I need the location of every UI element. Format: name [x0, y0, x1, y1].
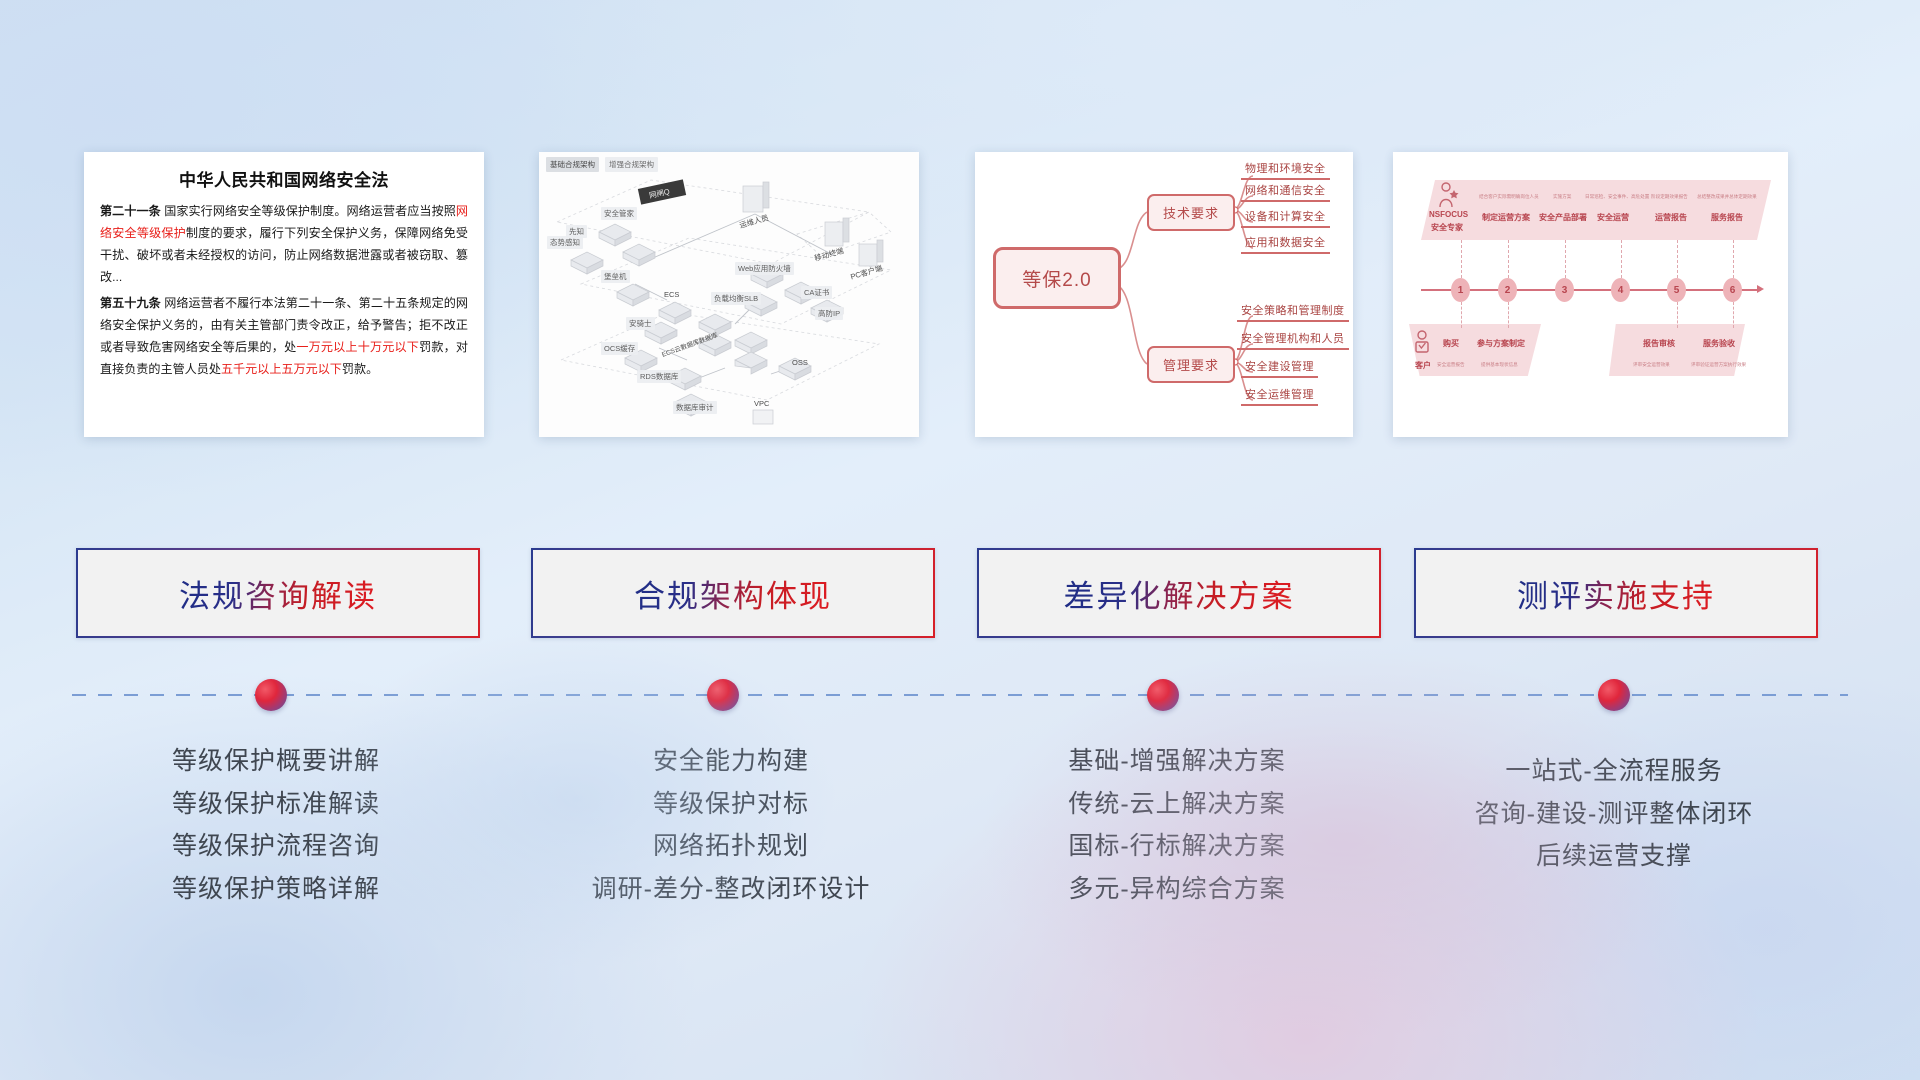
list-item: 基础-增强解决方案 — [977, 740, 1377, 783]
article-59-text-c: 罚款。 — [342, 362, 378, 376]
connector-bottom-1 — [1461, 302, 1462, 328]
mindmap-branch-management: 管理要求 — [1147, 346, 1235, 383]
pillar-heading-1: 法规咨询解读 — [179, 571, 377, 616]
arch-label-rds-database: RDS数据库 — [637, 370, 681, 383]
connector-top-4 — [1621, 240, 1622, 278]
pillar-list-1: 等级保护概要讲解 等级保护标准解读 等级保护流程咨询 等级保护策略详解 — [76, 740, 476, 910]
poster-canvas: 中华人民共和国网络安全法 第二十一条 国家实行网络安全等级保护制度。网络运营者应… — [0, 0, 1920, 1080]
arch-label-anti-ddos-ip: 高防IP — [815, 307, 843, 320]
arch-label-anqishi: 安骑士 — [626, 317, 655, 330]
arch-label-waf: Web应用防火墙 — [735, 262, 794, 275]
connector-top-1 — [1461, 240, 1462, 278]
list-item: 传统-云上解决方案 — [977, 783, 1377, 826]
timeline-axis — [1421, 289, 1761, 291]
arch-label-ca-cert: CA证书 — [801, 286, 832, 299]
timeline-step-3: 3 — [1555, 278, 1574, 302]
list-item: 后续运营支撑 — [1414, 835, 1814, 878]
mindmap-leaf-app-data: 应用和数据安全 — [1241, 234, 1330, 254]
dashed-timeline-track — [72, 694, 1848, 696]
law-title: 中华人民共和国网络安全法 — [100, 166, 468, 191]
timeline-step-4: 4 — [1611, 278, 1630, 302]
top-step-4-sub: 阶段定期效果报告 — [1651, 194, 1688, 200]
article-59-label: 第五十九条 — [100, 296, 161, 310]
connector-bottom-4 — [1733, 302, 1734, 328]
list-item: 等级保护对标 — [531, 783, 931, 826]
top-step-5-title: 服务报告 — [1711, 212, 1743, 223]
list-item: 调研-差分-整改闭环设计 — [531, 868, 931, 911]
top-step-2-sub: 实施方案 — [1553, 194, 1571, 200]
list-item: 等级保护策略详解 — [76, 868, 476, 911]
article-21-label: 第二十一条 — [100, 204, 161, 218]
connector-top-2 — [1508, 240, 1509, 278]
mindmap-leaf-device-compute: 设备和计算安全 — [1241, 208, 1330, 228]
mindmap-branch-technical: 技术要求 — [1147, 194, 1235, 231]
timeline-marker-2[interactable] — [707, 679, 739, 711]
timeline-step-5: 5 — [1667, 278, 1686, 302]
arch-label-db-audit: 数据库审计 — [673, 401, 717, 414]
brand-name: NSFOCUS — [1429, 210, 1468, 219]
pillar-heading-4: 测评实施支持 — [1517, 571, 1715, 616]
list-item: 网络拓扑规划 — [531, 825, 931, 868]
mindmap-leaf-network-comm: 网络和通信安全 — [1241, 182, 1330, 202]
arch-label-vpc: VPC — [751, 398, 772, 409]
timeline-marker-3[interactable] — [1147, 679, 1179, 711]
bottom-step-3-sub: 评审安全运营效果 — [1633, 362, 1670, 368]
architecture-canvas: 基础合规架构 增强合规架构 — [539, 152, 919, 437]
bottom-step-4-title: 服务验收 — [1703, 338, 1735, 349]
arch-label-ecs: ECS — [661, 289, 682, 300]
expert-avatar-icon — [1437, 182, 1459, 208]
bottom-step-2-sub: 提供基本现状信息 — [1481, 362, 1518, 368]
connector-top-6 — [1733, 240, 1734, 278]
bottom-step-3-title: 报告审核 — [1643, 338, 1675, 349]
pillar-heading-2: 合规架构体现 — [634, 571, 832, 616]
connector-bottom-3 — [1677, 302, 1678, 328]
mindmap-root: 等保2.0 — [993, 247, 1121, 309]
list-item: 等级保护概要讲解 — [76, 740, 476, 783]
top-step-4-title: 运营报告 — [1655, 212, 1687, 223]
list-item: 一站式-全流程服务 — [1414, 750, 1814, 793]
law-article-21: 第二十一条 国家实行网络安全等级保护制度。网络运营者应当按照网络安全等级保护制度… — [100, 200, 468, 288]
arch-label-bastion-host: 堡垒机 — [601, 270, 630, 283]
connector-top-5 — [1677, 240, 1678, 278]
article-59-highlight-2: 五千元以上五万元以下 — [221, 362, 342, 376]
timeline-step-2: 2 — [1498, 278, 1517, 302]
timeline-marker-1[interactable] — [255, 679, 287, 711]
top-step-3-title: 安全运营 — [1597, 212, 1629, 223]
law-document-body: 中华人民共和国网络安全法 第二十一条 国家实行网络安全等级保护制度。网络运营者应… — [84, 152, 484, 437]
mindmap-leaf-physical-env: 物理和环境安全 — [1241, 160, 1330, 180]
pillar-list-2: 安全能力构建 等级保护对标 网络拓扑规划 调研-差分-整改闭环设计 — [531, 740, 931, 910]
top-step-1-title: 制定运营方案 — [1482, 212, 1530, 223]
mindmap-canvas: 等保2.0 技术要求 管理要求 物理和环境安全 网络和通信安全 设备和计算安全 … — [975, 152, 1353, 437]
mindmap-leaf-policy-system: 安全策略和管理制度 — [1237, 302, 1349, 322]
pillar-list-4: 一站式-全流程服务 咨询-建设-测评整体闭环 后续运营支撑 — [1414, 750, 1814, 878]
arch-label-ocs-cache: OCS缓存 — [601, 342, 638, 355]
pillar-heading-3: 差异化解决方案 — [1064, 571, 1295, 616]
pillar-heading-box-3[interactable]: 差异化解决方案 — [977, 548, 1381, 638]
top-step-1-sub: 结合客户实际需明确岗位人员 — [1479, 194, 1539, 200]
customer-label: 客户 — [1415, 360, 1431, 371]
arch-label-situational-awareness: 态势感知 — [547, 236, 583, 249]
list-item: 咨询-建设-测评整体闭环 — [1414, 793, 1814, 836]
law-article-59: 第五十九条 网络运营者不履行本法第二十一条、第二十五条规定的网络安全保护义务的，… — [100, 292, 468, 380]
service-timeline-canvas: NSFOCUS 安全专家 结合客户实际需明确岗位人员 制定运营方案 实施方案 安… — [1393, 152, 1788, 437]
list-item: 国标-行标解决方案 — [977, 825, 1377, 868]
arch-label-oss: OSS — [789, 357, 811, 368]
card-mindmap: 等保2.0 技术要求 管理要求 物理和环境安全 网络和通信安全 设备和计算安全 … — [975, 152, 1353, 437]
mindmap-leaf-construction-mgmt: 安全建设管理 — [1241, 358, 1318, 378]
bottom-step-4-sub: 评审验证运营方案执行效果 — [1691, 362, 1746, 368]
card-service-timeline: NSFOCUS 安全专家 结合客户实际需明确岗位人员 制定运营方案 实施方案 安… — [1393, 152, 1788, 437]
article-21-text-a: 国家实行网络安全等级保护制度。网络运营者应当按照 — [161, 204, 456, 218]
bottom-step-2-title: 参与方案制定 — [1477, 338, 1525, 349]
pillar-heading-box-2[interactable]: 合规架构体现 — [531, 548, 935, 638]
timeline-arrow-icon — [1757, 285, 1764, 293]
pillar-heading-box-4[interactable]: 测评实施支持 — [1414, 548, 1818, 638]
screenshot-cards-row: 中华人民共和国网络安全法 第二十一条 国家实行网络安全等级保护制度。网络运营者应… — [0, 0, 1920, 450]
bottom-step-1-sub: 安全运营报告 — [1437, 362, 1465, 368]
card-law-document: 中华人民共和国网络安全法 第二十一条 国家实行网络安全等级保护制度。网络运营者应… — [84, 152, 484, 437]
timeline-bottom-right-band — [1609, 324, 1745, 376]
arch-label-security-steward: 安全管家 — [601, 207, 637, 220]
top-step-3-sub: 日常巡检、安全事件、高危处置 — [1585, 194, 1649, 200]
list-item: 安全能力构建 — [531, 740, 931, 783]
top-step-5-sub: 总结整改成果并总体定期效果 — [1697, 194, 1757, 200]
timeline-step-6: 6 — [1723, 278, 1742, 302]
mindmap-leaf-ops-mgmt: 安全运维管理 — [1241, 386, 1318, 406]
arch-label-slb: 负载均衡SLB — [711, 292, 761, 305]
pillar-heading-box-1[interactable]: 法规咨询解读 — [76, 548, 480, 638]
timeline-marker-4[interactable] — [1598, 679, 1630, 711]
list-item: 等级保护标准解读 — [76, 783, 476, 826]
list-item: 等级保护流程咨询 — [76, 825, 476, 868]
timeline-top-band — [1421, 180, 1771, 240]
timeline-step-1: 1 — [1451, 278, 1470, 302]
top-step-2-title: 安全产品部署 — [1539, 212, 1587, 223]
brand-role: 安全专家 — [1431, 222, 1463, 233]
bottom-step-1-title: 购买 — [1443, 338, 1459, 349]
article-59-highlight-1: 一万元以上十万元以下 — [296, 340, 419, 354]
connector-bottom-2 — [1508, 302, 1509, 328]
customer-avatar-icon — [1413, 330, 1431, 358]
card-architecture-diagram: 基础合规架构 增强合规架构 — [539, 152, 919, 437]
connector-top-3 — [1565, 240, 1566, 278]
mindmap-leaf-org-personnel: 安全管理机构和人员 — [1237, 330, 1349, 350]
list-item: 多元-异构综合方案 — [977, 868, 1377, 911]
pillar-list-3: 基础-增强解决方案 传统-云上解决方案 国标-行标解决方案 多元-异构综合方案 — [977, 740, 1377, 910]
